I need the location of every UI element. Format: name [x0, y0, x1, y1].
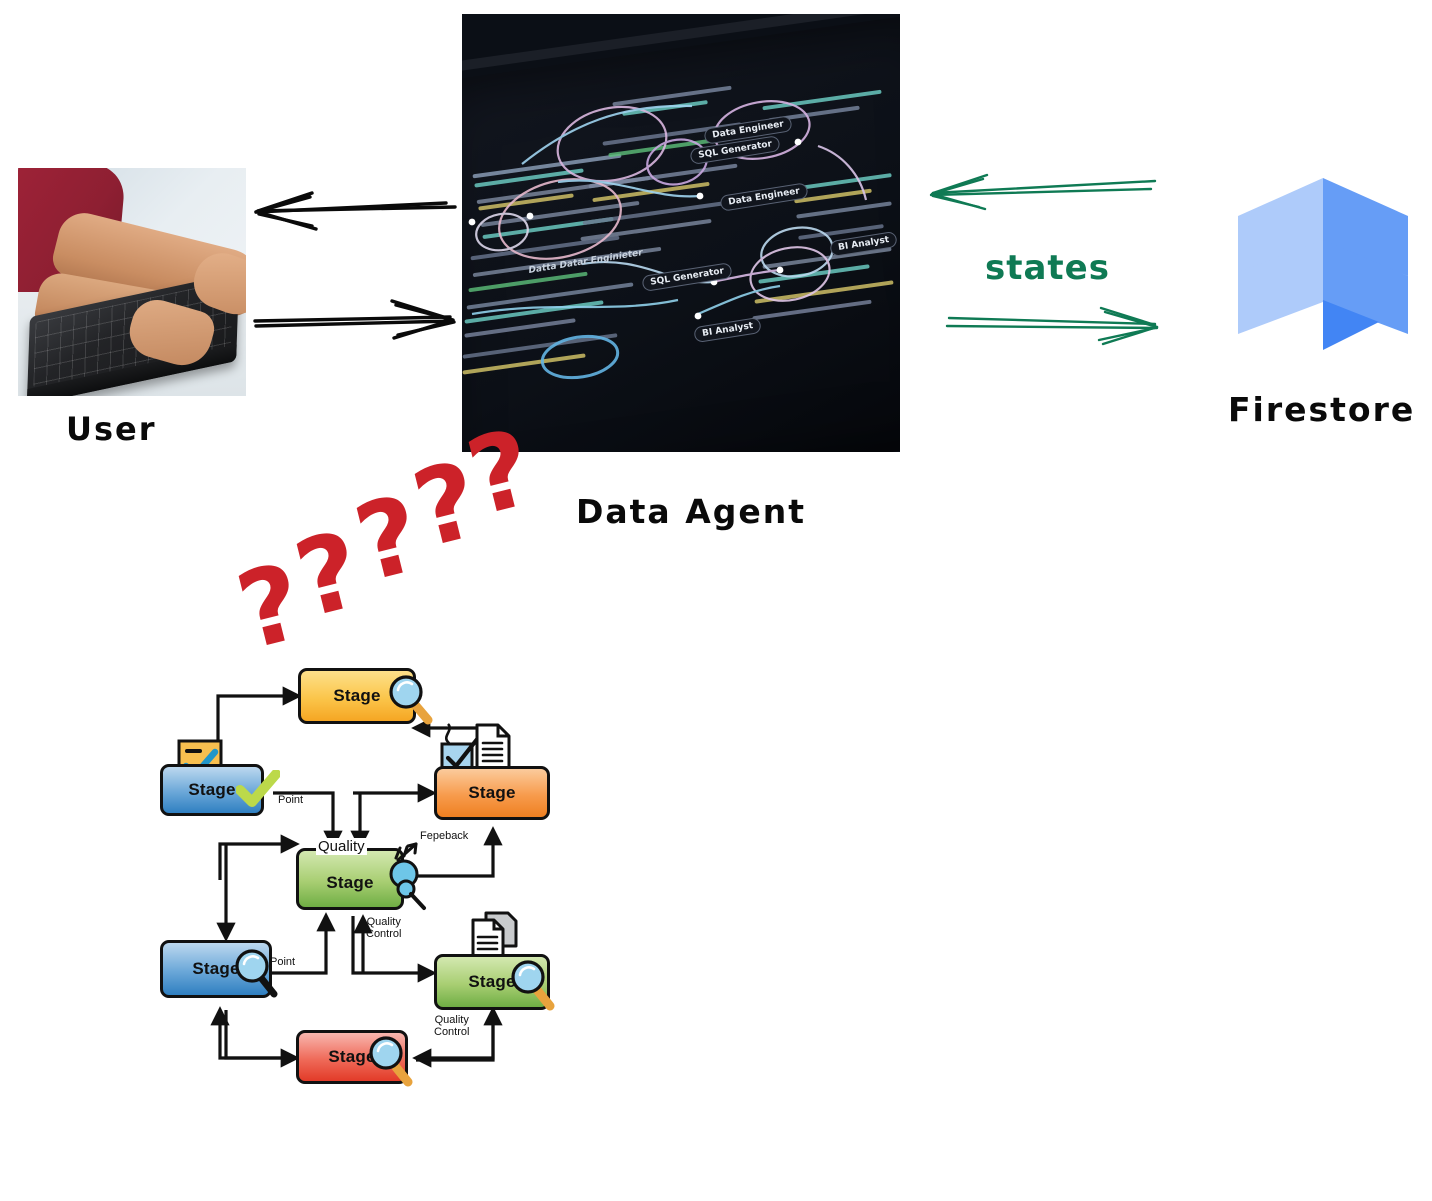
- arrow-user-to-agent: [250, 295, 460, 355]
- arrow-agent-to-user: [250, 185, 460, 245]
- edge-label-quality-control-top: Quality Control: [366, 916, 401, 940]
- magnifier-icon: [364, 1030, 416, 1088]
- magnifier-icon: [230, 942, 282, 1000]
- magnifier-icon: [506, 954, 558, 1012]
- firestore-logo: [1232, 172, 1414, 364]
- stage-label: Stage: [326, 873, 373, 893]
- edge-label-point-bottom: Point: [270, 956, 295, 968]
- stage-label: Stage: [333, 686, 380, 706]
- stage-label: Stage: [188, 780, 235, 800]
- data-agent-label: Data Agent: [576, 492, 806, 531]
- user-photo: [18, 168, 246, 396]
- magnifier-icon: [384, 670, 436, 726]
- arrow-agent-to-firestore: [945, 300, 1165, 356]
- user-label: User: [66, 410, 157, 448]
- edge-label-quality-control-bottom: Quality Control: [434, 1014, 469, 1038]
- quality-top-label: Quality: [316, 838, 367, 855]
- data-agent-screenshot: Data Engineer SQL Generator Data Enginee…: [462, 14, 900, 452]
- stage-node-orange[interactable]: Stage: [434, 766, 550, 820]
- stage-flowchart: Stage Stage Stage Stage Quality: [148, 648, 578, 1098]
- bubble-magnifier-icon: [384, 842, 434, 914]
- question-marks-group: ? ? ? ? ?: [240, 430, 540, 650]
- stage-label: Stage: [468, 783, 515, 803]
- document-icon: [474, 722, 512, 772]
- agent-graph-edges: [462, 14, 900, 452]
- firestore-label: Firestore: [1228, 390, 1415, 429]
- green-check-icon: [236, 770, 280, 810]
- edge-label-point-top: Point: [278, 794, 303, 806]
- arrow-firestore-to-agent: [925, 165, 1160, 225]
- states-label: states: [985, 248, 1110, 288]
- edge-label-fepeback: Fepeback: [420, 830, 468, 842]
